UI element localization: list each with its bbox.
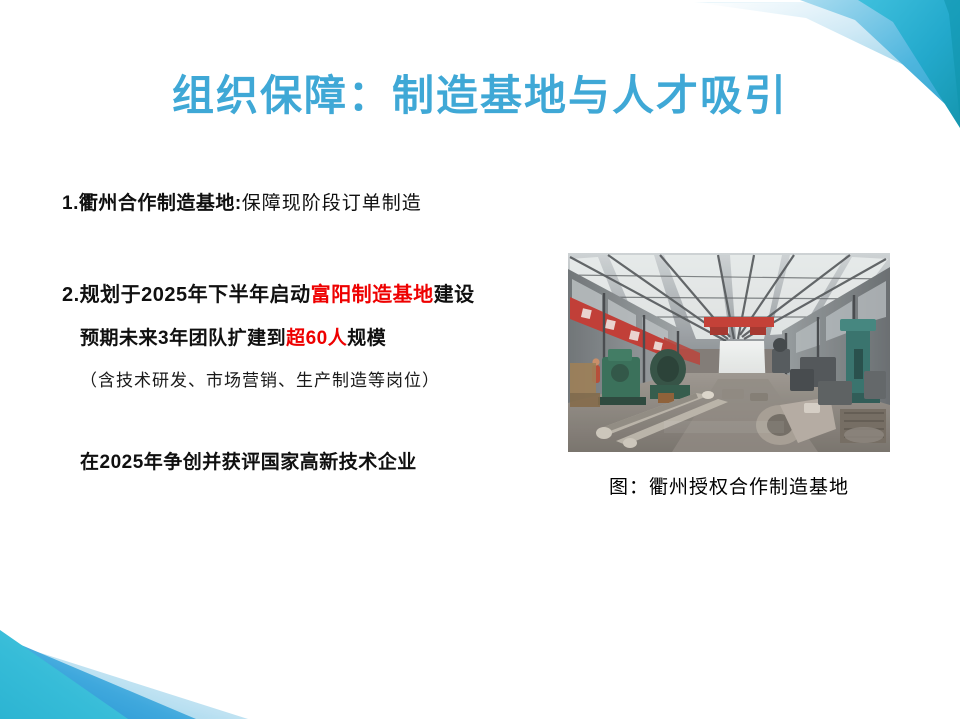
bullet-item-2-sub-1: 预期未来3年团队扩建到超60人规模 [62,324,562,354]
factory-interior-photo [568,253,890,452]
sub-1-part-b: 规模 [347,328,386,349]
figure-caption: 图：衢州授权合作制造基地 [568,472,890,499]
bullet-2-part-b: 建设 [434,284,475,306]
bullet-1-lead: 1.衢州合作制造基地: [62,193,242,214]
bullet-1-rest: 保障现阶段订单制造 [242,193,422,214]
sub-1-highlight: 超60人 [286,328,347,349]
bullet-2-part-a: 2.规划于2025年下半年启动 [62,284,311,306]
slide-title: 组织保障：制造基地与人才吸引 [0,62,960,123]
bullet-item-2: 2.规划于2025年下半年启动富阳制造基地建设 [62,280,562,310]
bullet-item-1: 1.衢州合作制造基地:保障现阶段订单制造 [62,190,562,218]
bullet-item-2-sub-2: （含技术研发、市场营销、生产制造等岗位） [62,366,562,396]
sub-1-part-a: 预期未来3年团队扩建到 [80,328,286,349]
slide-root: 组织保障：制造基地与人才吸引 1.衢州合作制造基地:保障现阶段订单制造 2.规划… [0,0,960,720]
body-text-block: 1.衢州合作制造基地:保障现阶段订单制造 2.规划于2025年下半年启动富阳制造… [62,190,562,478]
figure-block: 图：衢州授权合作制造基地 [568,253,890,499]
bullet-2-highlight: 富阳制造基地 [311,284,434,306]
bullet-item-3: 在2025年争创并获评国家高新技术企业 [62,448,562,478]
